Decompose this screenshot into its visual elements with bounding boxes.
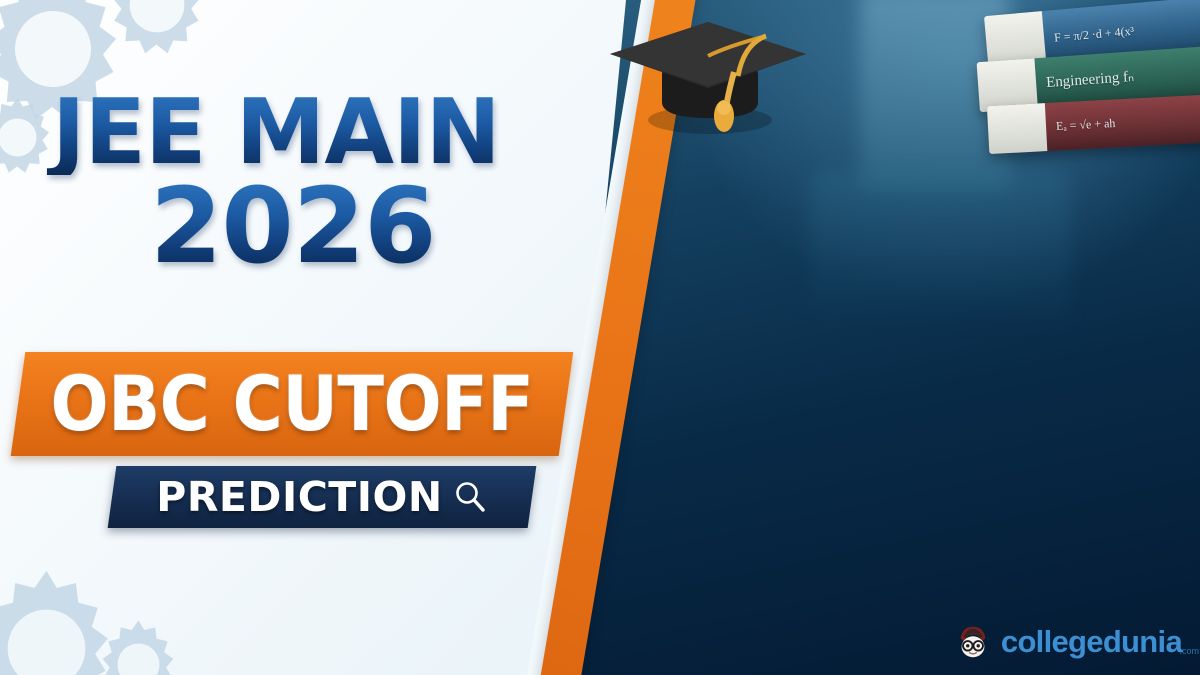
headline-line-2: 2026 [0, 179, 620, 275]
prediction-banner-label: PREDICTION [156, 473, 442, 521]
headline-line-1: JEE MAIN [0, 92, 620, 175]
background-blur-shape [810, 170, 1070, 320]
headline-block: JEE MAIN 2026 [0, 92, 620, 274]
book-label: F = π/2 ·d + 4(x³ [1054, 24, 1135, 46]
book-stack: F = π/2 ·d + 4(x³ Engineering fₙ Eₐ = √e… [972, 0, 1200, 178]
prediction-banner: PREDICTION [108, 466, 537, 528]
thumbnail-canvas: F = π/2 ·d + 4(x³ Engineering fₙ Eₐ = √e… [0, 0, 1200, 675]
book-spine [987, 103, 1047, 154]
logo-name: collegedunia [1001, 624, 1182, 659]
obc-cutoff-banner-label: OBC CUTOFF [18, 352, 566, 456]
logo-wordmark: collegedunia .com [1001, 624, 1182, 660]
book-label: Eₐ = √e + ah [1056, 116, 1116, 134]
magnifying-glass-icon [452, 479, 488, 515]
mascot-avatar-icon [954, 623, 992, 661]
logo-tld: .com [1179, 646, 1199, 656]
book-label: Engineering fₙ [1045, 67, 1134, 92]
obc-cutoff-banner: OBC CUTOFF [11, 352, 574, 456]
gear-icon [92, 0, 222, 70]
gear-icon [86, 612, 191, 675]
collegedunia-logo[interactable]: collegedunia .com [954, 623, 1182, 661]
graduation-cap-icon [600, 12, 815, 142]
